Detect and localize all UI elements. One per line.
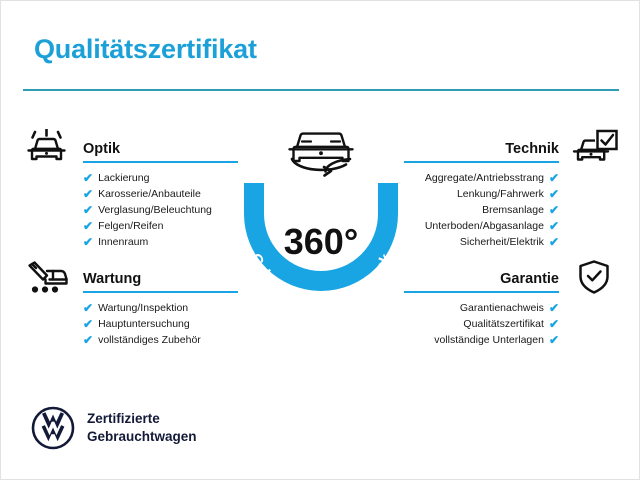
section-header: Garantie	[404, 259, 619, 293]
list-item-label: Lackierung	[98, 173, 149, 184]
check-icon: ✔	[83, 318, 93, 330]
section-wartung: Wartung ✔ Wartung/Inspektion ✔ Hauptunte…	[23, 259, 238, 348]
section-header: Technik	[404, 129, 619, 163]
list-item-label: Unterboden/Abgasanlage	[425, 221, 544, 232]
section-garantie: Garantie Garantienachweis ✔ Qualitätszer…	[404, 259, 619, 348]
section-title: Optik	[83, 141, 120, 157]
list-item-label: vollständige Unterlagen	[434, 335, 544, 346]
section-optik: Optik ✔ Lackierung ✔ Karosserie/Anbautei…	[23, 129, 238, 250]
section-title: Wartung	[83, 271, 141, 287]
section-divider	[404, 291, 559, 293]
list-item-label: Garantienachweis	[460, 303, 544, 314]
section-divider	[83, 161, 238, 163]
list-item: Sicherheit/Elektrik ✔	[404, 234, 559, 250]
check-icon: ✔	[549, 220, 559, 232]
section-technik: Technik Aggregate/Antriebsstrang ✔ Lenku…	[404, 129, 619, 250]
car-front-rotate-icon	[290, 134, 353, 176]
check-icon: ✔	[83, 204, 93, 216]
list-item: vollständige Unterlagen ✔	[404, 332, 559, 348]
section-header: Wartung	[23, 259, 238, 293]
check-icon: ✔	[549, 318, 559, 330]
list-item-label: Sicherheit/Elektrik	[460, 237, 544, 248]
footer-line-1: Zertifizierte	[87, 410, 197, 428]
list-item: Aggregate/Antriebsstrang ✔	[404, 170, 559, 186]
section-title: Garantie	[500, 271, 559, 287]
section-divider	[404, 161, 559, 163]
list-item-label: Felgen/Reifen	[98, 221, 163, 232]
list-item-label: Qualitätszertifikat	[463, 319, 544, 330]
list-item: ✔ Wartung/Inspektion	[83, 300, 238, 316]
section-header: Optik	[23, 129, 238, 163]
header-divider	[23, 89, 619, 91]
list-item: Lenkung/Fahrwerk ✔	[404, 186, 559, 202]
check-icon: ✔	[83, 236, 93, 248]
list-item-label: Aggregate/Antriebsstrang	[425, 173, 544, 184]
list-item: ✔ Innenraum	[83, 234, 238, 250]
car-checkbox-icon	[569, 129, 619, 170]
check-icon: ✔	[549, 188, 559, 200]
section-title: Technik	[505, 141, 559, 157]
badge-center-label: 360°	[284, 221, 358, 262]
wrench-car-icon	[23, 259, 71, 300]
list-item-label: Verglasung/Beleuchtung	[98, 205, 212, 216]
check-icon: ✔	[549, 334, 559, 346]
check-icon: ✔	[549, 204, 559, 216]
check-icon: ✔	[83, 220, 93, 232]
check-icon: ✔	[549, 302, 559, 314]
check-icon: ✔	[549, 172, 559, 184]
badge-360-gebrauchtwagen-check: Gebrauchtwagen-Check 360°	[226, 119, 416, 319]
car-sparkle-icon	[23, 129, 71, 170]
shield-check-icon	[577, 259, 611, 300]
check-icon: ✔	[83, 334, 93, 346]
section-divider	[83, 291, 238, 293]
list-item-label: Karosserie/Anbauteile	[98, 189, 201, 200]
list-item-label: Wartung/Inspektion	[98, 303, 188, 314]
list-item: ✔ Felgen/Reifen	[83, 218, 238, 234]
list-item: Qualitätszertifikat ✔	[404, 316, 559, 332]
list-item: Bremsanlage ✔	[404, 202, 559, 218]
list-item-label: vollständiges Zubehör	[98, 335, 201, 346]
check-icon: ✔	[83, 188, 93, 200]
check-icon: ✔	[83, 172, 93, 184]
list-item: ✔ Hauptuntersuchung	[83, 316, 238, 332]
footer-brand: Zertifizierte Gebrauchtwagen	[31, 406, 197, 450]
page-title: Qualitätszertifikat	[34, 34, 257, 65]
list-item: ✔ vollständiges Zubehör	[83, 332, 238, 348]
certificate-page: Qualitätszertifikat Optik	[0, 0, 640, 480]
list-item-label: Bremsanlage	[482, 205, 544, 216]
check-icon: ✔	[549, 236, 559, 248]
footer-line-2: Gebrauchtwagen	[87, 428, 197, 446]
list-item: Unterboden/Abgasanlage ✔	[404, 218, 559, 234]
vw-logo	[31, 406, 75, 450]
footer-text: Zertifizierte Gebrauchtwagen	[87, 410, 197, 446]
checklist: ✔ Wartung/Inspektion ✔ Hauptuntersuchung…	[23, 300, 238, 348]
check-icon: ✔	[83, 302, 93, 314]
list-item-label: Lenkung/Fahrwerk	[457, 189, 544, 200]
list-item: ✔ Karosserie/Anbauteile	[83, 186, 238, 202]
list-item-label: Hauptuntersuchung	[98, 319, 190, 330]
list-item: Garantienachweis ✔	[404, 300, 559, 316]
checklist: Aggregate/Antriebsstrang ✔ Lenkung/Fahrw…	[404, 170, 619, 250]
checklist: Garantienachweis ✔ Qualitätszertifikat ✔…	[404, 300, 619, 348]
checklist: ✔ Lackierung ✔ Karosserie/Anbauteile ✔ V…	[23, 170, 238, 250]
list-item-label: Innenraum	[98, 237, 148, 248]
list-item: ✔ Verglasung/Beleuchtung	[83, 202, 238, 218]
list-item: ✔ Lackierung	[83, 170, 238, 186]
